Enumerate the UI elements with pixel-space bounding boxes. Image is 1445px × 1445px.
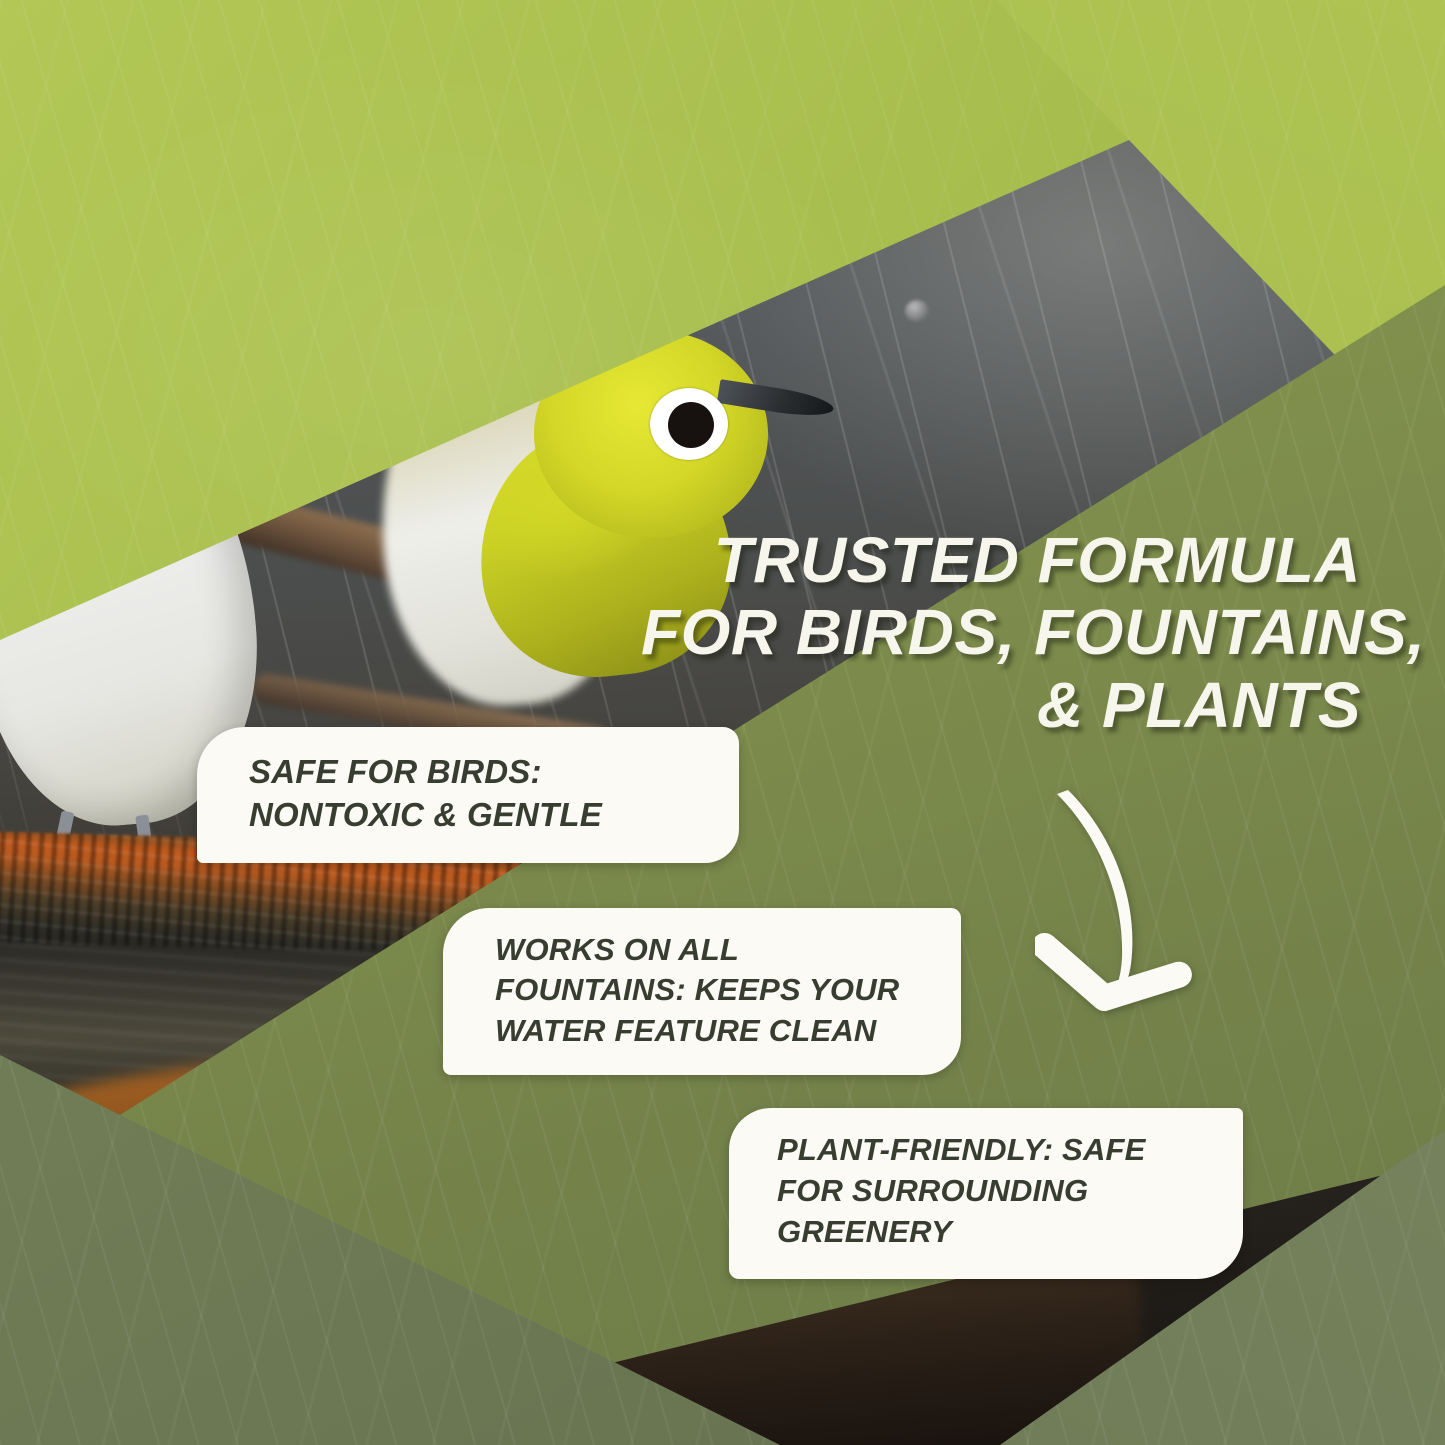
raindrop — [745, 270, 775, 300]
infographic-poster: TRUSTED FORMULA FOR BIRDS, FOUNTAINS, & … — [0, 0, 1445, 1445]
bird-pupil — [668, 402, 714, 448]
curved-down-left-arrow-icon — [1035, 778, 1220, 1028]
callout-line: WATER FEATURE CLEAN — [495, 1011, 935, 1051]
callout-line: GREENERY — [777, 1212, 1217, 1253]
callout-line: PLANT-FRIENDLY: SAFE — [777, 1130, 1217, 1171]
headline: TRUSTED FORMULA FOR BIRDS, FOUNTAINS, & … — [641, 524, 1361, 741]
headline-line-2: FOR BIRDS, FOUNTAINS, — [641, 596, 1361, 668]
bird-pupil — [142, 331, 188, 377]
callout-works-on-all-fountains: WORKS ON ALL FOUNTAINS: KEEPS YOUR WATER… — [443, 908, 961, 1075]
callout-line: SAFE FOR BIRDS: — [249, 751, 709, 794]
raindrop — [860, 180, 882, 202]
callout-line: NONTOXIC & GENTLE — [249, 794, 709, 837]
raindrop — [1015, 92, 1049, 122]
bird-pupil — [510, 247, 552, 289]
headline-line-1: TRUSTED FORMULA — [641, 524, 1361, 596]
callout-line: FOUNTAINS: KEEPS YOUR — [495, 970, 935, 1010]
callout-line: FOR SURROUNDING — [777, 1171, 1217, 1212]
callout-line: WORKS ON ALL — [495, 930, 935, 970]
callout-safe-for-birds: SAFE FOR BIRDS: NONTOXIC & GENTLE — [197, 727, 739, 863]
raindrop — [905, 300, 929, 322]
headline-line-3: & PLANTS — [641, 669, 1361, 741]
callout-plant-friendly: PLANT-FRIENDLY: SAFE FOR SURROUNDING GRE… — [729, 1108, 1243, 1279]
